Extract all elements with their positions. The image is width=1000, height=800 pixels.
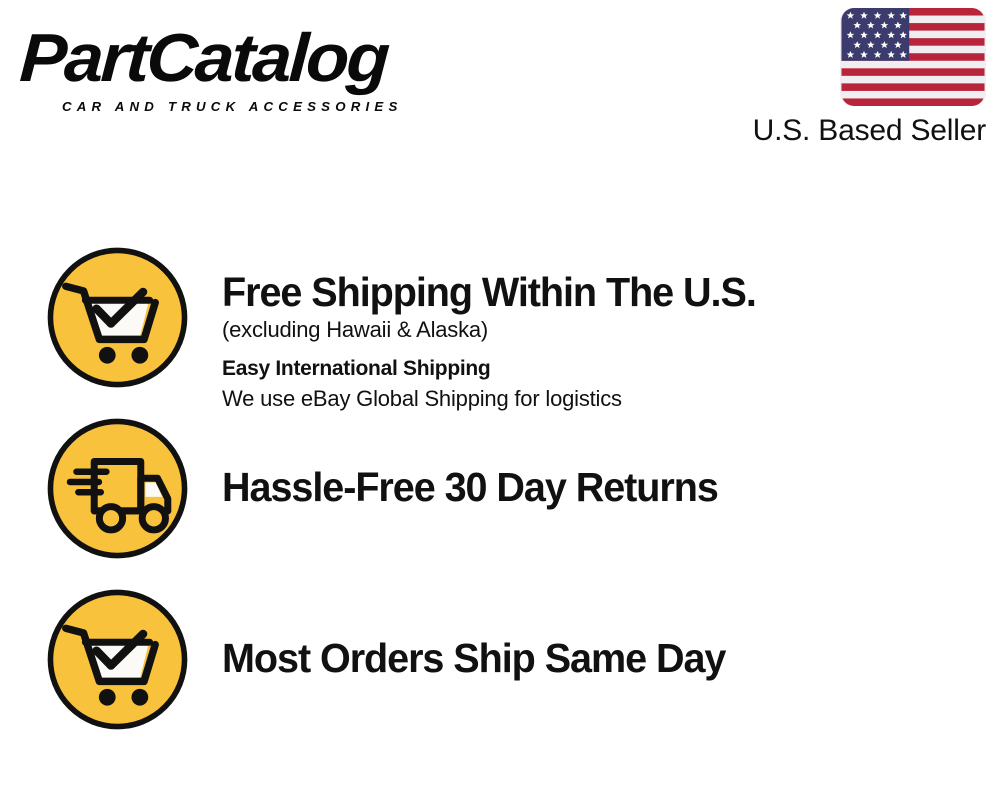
cart-check-icon: [43, 243, 192, 392]
brand-tagline: CAR AND TRUCK ACCESSORIES: [62, 100, 403, 114]
feature-subtitle-strong: Easy International Shipping: [222, 354, 982, 384]
delivery-truck-icon: [43, 414, 192, 563]
feature-subtitle: (excluding Hawaii & Alaska): [222, 315, 982, 345]
feature-text-block: Hassle-Free 30 Day Returns: [222, 464, 982, 510]
us-based-seller-block: U.S. Based Seller: [714, 8, 986, 148]
feature-title: Free Shipping Within The U.S.: [222, 269, 955, 315]
banner-header: PartCatalog CAR AND TRUCK ACCESSORIES: [0, 0, 1000, 170]
feature-row: Free Shipping Within The U.S. (excluding…: [0, 243, 1000, 403]
cart-check-icon: [43, 585, 192, 734]
feature-row: Hassle-Free 30 Day Returns: [0, 414, 1000, 574]
feature-text-block: Most Orders Ship Same Day: [222, 635, 982, 681]
promo-banner: PartCatalog CAR AND TRUCK ACCESSORIES: [0, 0, 1000, 800]
feature-subtitle-secondary: We use eBay Global Shipping for logistic…: [222, 384, 982, 414]
spacer: [222, 345, 982, 354]
feature-text-block: Free Shipping Within The U.S. (excluding…: [222, 269, 982, 414]
brand-logo: PartCatalog CAR AND TRUCK ACCESSORIES: [22, 22, 492, 118]
us-flag-icon: [840, 8, 986, 106]
feature-title: Most Orders Ship Same Day: [222, 635, 955, 681]
feature-row: Most Orders Ship Same Day: [0, 585, 1000, 745]
feature-title: Hassle-Free 30 Day Returns: [222, 464, 955, 510]
brand-wordmark: PartCatalog: [18, 22, 511, 94]
us-based-seller-label: U.S. Based Seller: [714, 114, 986, 148]
